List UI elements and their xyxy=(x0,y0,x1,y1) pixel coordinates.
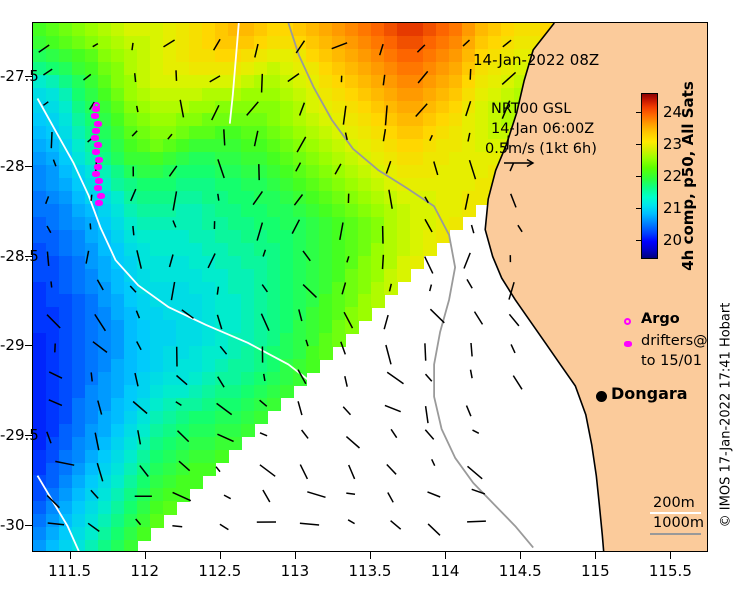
y-tick-label: -28 xyxy=(0,157,24,175)
colorbar-title: 4h comp, p50, All Sats xyxy=(679,81,697,271)
map-plot-area[interactable]: 14-Jan-2022 08Z NRT00 GSL 14-Jan 06:00Z … xyxy=(32,22,708,552)
x-tick-label: 114 xyxy=(431,562,460,580)
depth-1000m-label: 1000m xyxy=(653,515,704,531)
model-name-label: NRT00 GSL xyxy=(491,101,571,117)
y-tick-label: -28.5 xyxy=(0,247,24,265)
colorbar-gradient xyxy=(641,93,658,259)
x-tick-label: 115 xyxy=(581,562,610,580)
dongara-marker-icon xyxy=(596,391,607,402)
drifters-time-label: to 15/01 12Z xyxy=(641,353,707,369)
y-tick-label: -30 xyxy=(0,516,24,534)
x-tick-label: 112.5 xyxy=(198,562,241,580)
date-stamp: 14-Jan-2022 08Z xyxy=(473,51,599,69)
y-tick-label: -29.5 xyxy=(0,426,24,444)
credit-label: © IMOS 17-Jan-2022 17:41 Hobart xyxy=(719,303,734,528)
dongara-label: Dongara xyxy=(611,384,688,403)
y-tick-label: -29 xyxy=(0,336,24,354)
x-tick-label: 115.5 xyxy=(649,562,692,580)
colorbar[interactable]: 2423222120 xyxy=(641,93,658,259)
vector-scale-label: 0.5m/s (1kt 6h) xyxy=(485,141,597,157)
x-tick-label: 111.5 xyxy=(48,562,91,580)
argo-legend-label: Argo xyxy=(641,311,680,327)
y-tick-label: -27.5 xyxy=(0,67,24,85)
x-tick-label: 113.5 xyxy=(349,562,392,580)
argo-marker-icon xyxy=(624,318,631,325)
x-tick-label: 114.5 xyxy=(499,562,542,580)
map-canvas: 14-Jan-2022 08Z NRT00 GSL 14-Jan 06:00Z … xyxy=(33,23,707,551)
sst-map-figure: 14-Jan-2022 08Z NRT00 GSL 14-Jan 06:00Z … xyxy=(0,0,740,592)
x-tick-label: 112 xyxy=(130,562,159,580)
x-tick-label: 113 xyxy=(281,562,310,580)
drifters-legend-label: drifters@6h xyxy=(641,333,707,349)
depth-200m-label: 200m xyxy=(653,495,695,511)
model-time-label: 14-Jan 06:00Z xyxy=(491,121,594,137)
drifter-marker-icon xyxy=(624,341,632,347)
